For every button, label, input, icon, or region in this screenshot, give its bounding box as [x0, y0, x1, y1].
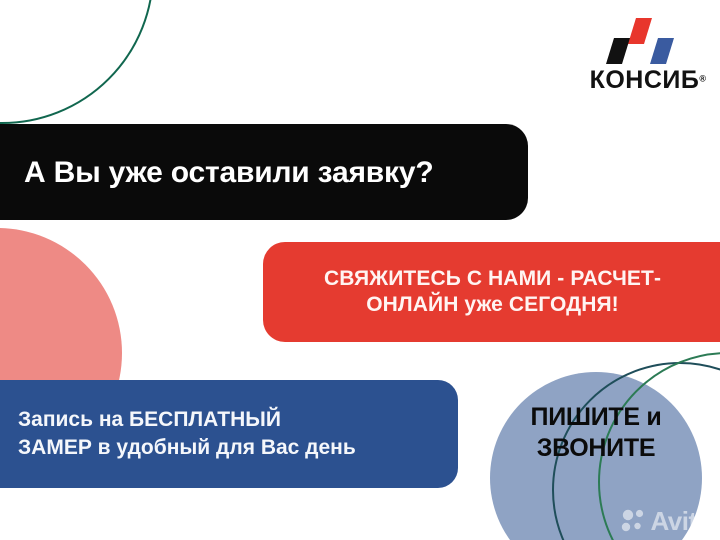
free-measure-banner-text: Запись на БЕСПЛАТНЫЙ ЗАМЕР в удобный для…: [18, 406, 356, 463]
avito-watermark-text: Avito: [650, 508, 712, 534]
brand-wordmark: КОНСИБ: [590, 66, 700, 94]
contact-banner-line2-soft: уже: [464, 293, 503, 316]
call-to-action-text: ПИШИТЕ и ЗВОНИТЕ: [490, 402, 702, 463]
konsib-logo-mark-icon: [600, 18, 676, 66]
free-measure-line2: ЗАМЕР в удобный для Вас день: [18, 436, 356, 459]
contact-banner-line1: СВЯЖИТЕСЬ С НАМИ - РАСЧЕТ-: [324, 267, 661, 290]
free-measure-line1: Запись на БЕСПЛАТНЫЙ: [18, 408, 281, 431]
question-banner-text: А Вы уже оставили заявку?: [24, 156, 433, 189]
registered-trademark-symbol: ®: [699, 74, 706, 84]
call-to-action-line1: ПИШИТЕ и: [490, 402, 702, 433]
contact-banner-line2-strong: ОНЛАЙН: [366, 293, 458, 316]
free-measure-banner: Запись на БЕСПЛАТНЫЙ ЗАМЕР в удобный для…: [0, 380, 458, 488]
brand-logo: КОНСИБ®: [570, 18, 706, 102]
contact-banner: СВЯЖИТЕСЬ С НАМИ - РАСЧЕТ- ОНЛАЙН уже СЕ…: [263, 242, 720, 342]
avito-dots-icon: [620, 508, 646, 534]
call-to-action-line2: ЗВОНИТЕ: [490, 433, 702, 464]
contact-banner-line2-end: СЕГОДНЯ!: [509, 293, 619, 316]
brand-wordmark-wrap: КОНСИБ®: [570, 68, 706, 93]
ad-banner-canvas: КОНСИБ® А Вы уже оставили заявку? СВЯЖИТ…: [0, 0, 720, 540]
avito-watermark: Avito: [620, 508, 712, 534]
decorative-ring-top-left: [0, 0, 154, 124]
contact-banner-text: СВЯЖИТЕСЬ С НАМИ - РАСЧЕТ- ОНЛАЙН уже СЕ…: [324, 266, 661, 319]
question-banner: А Вы уже оставили заявку?: [0, 124, 528, 220]
